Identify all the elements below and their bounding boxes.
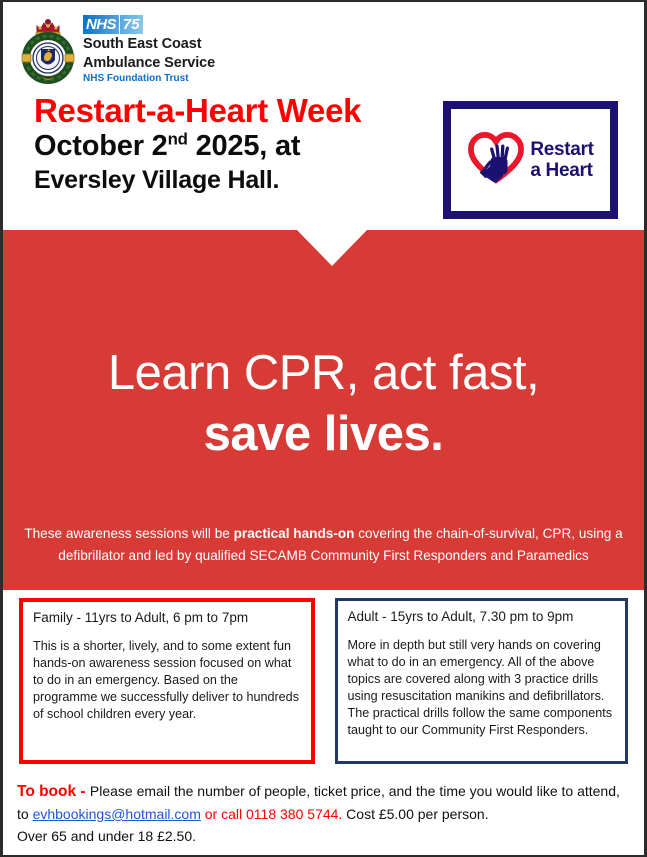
banner-description: These awareness sessions will be practic…	[19, 523, 628, 567]
restart-a-heart-line1: Restart	[530, 139, 593, 160]
banner-description-emphasis: practical hands-on	[234, 526, 355, 541]
family-session-heading: Family - 11yrs to Adult, 6 pm to 7pm	[33, 610, 301, 626]
event-date-pre: October 2	[34, 130, 168, 162]
poster-title-block: Restart-a-Heart Week October 2nd 2025, a…	[34, 93, 434, 196]
secamb-heraldic-crest-icon	[17, 13, 79, 87]
trust-name-line1: South East Coast	[83, 37, 313, 53]
speech-bubble-notch-icon	[297, 230, 367, 266]
restart-a-heart-logo-inner: Restart a Heart	[451, 109, 610, 211]
family-session-body: This is a shorter, lively, and to some e…	[33, 638, 301, 723]
trust-name-line2: Ambulance Service	[83, 56, 313, 72]
to-book-label: To book -	[17, 783, 90, 800]
adult-session-box: Adult - 15yrs to Adult, 7.30 pm to 9pm M…	[335, 598, 629, 764]
booking-footer: To book - Please email the number of peo…	[3, 774, 644, 847]
booking-line: To book - Please email the number of peo…	[17, 780, 630, 825]
adult-session-body: More in depth but still very hands on co…	[348, 637, 616, 739]
page-title: Restart-a-Heart Week	[34, 93, 434, 129]
headline-line1: Learn CPR, act fast,	[3, 342, 644, 404]
booking-cost: Cost £5.00 per person.	[342, 806, 488, 822]
headline-line2: save lives.	[3, 404, 644, 464]
session-boxes: Family - 11yrs to Adult, 6 pm to 7pm Thi…	[3, 598, 644, 764]
restart-a-heart-heart-hands-icon	[467, 131, 525, 190]
adult-session-heading: Adult - 15yrs to Adult, 7.30 pm to 9pm	[348, 609, 616, 625]
restart-a-heart-line2: a Heart	[530, 160, 593, 181]
booking-email-link[interactable]: evhbookings@hotmail.com	[33, 806, 201, 822]
poster-header: NHS 75 South East Coast Ambulance Servic…	[3, 2, 644, 230]
banner-description-pre: These awareness sessions will be	[24, 526, 233, 541]
event-date: October 2nd 2025, at	[34, 129, 434, 164]
red-banner: Learn CPR, act fast, save lives. These a…	[3, 230, 644, 590]
nhs-logo-row: NHS 75	[83, 15, 313, 34]
booking-concession: Over 65 and under 18 £2.50.	[17, 825, 630, 847]
event-date-ordinal: nd	[168, 129, 188, 148]
poster-page: NHS 75 South East Coast Ambulance Servic…	[0, 0, 647, 857]
banner-headline: Learn CPR, act fast, save lives.	[3, 342, 644, 464]
restart-a-heart-wordmark: Restart a Heart	[530, 139, 593, 181]
family-session-box: Family - 11yrs to Adult, 6 pm to 7pm Thi…	[19, 598, 315, 764]
nhs-trust-logo: NHS 75 South East Coast Ambulance Servic…	[83, 15, 313, 84]
trust-foundation-label: NHS Foundation Trust	[83, 73, 313, 84]
event-venue: Eversley Village Hall.	[34, 164, 434, 196]
booking-phone: or call 0118 380 5744.	[201, 806, 342, 822]
event-date-post: 2025, at	[188, 130, 301, 162]
restart-a-heart-logo-box: Restart a Heart	[443, 101, 618, 219]
nhs-75-badge: 75	[120, 15, 143, 34]
nhs-logo-icon: NHS	[83, 15, 119, 34]
